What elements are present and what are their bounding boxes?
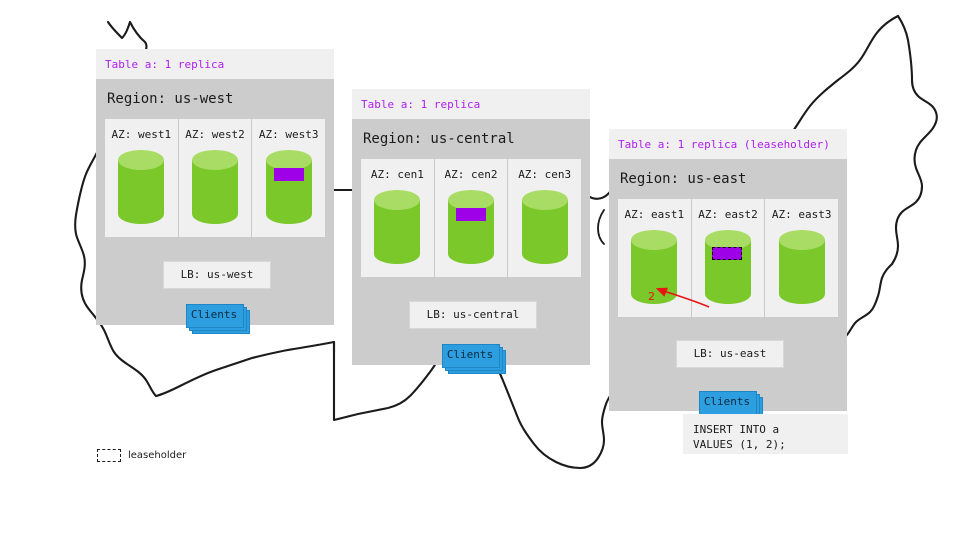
az-row-us-west: AZ: west1 AZ: west2	[105, 119, 325, 237]
node-cylinder-west2[interactable]	[191, 149, 239, 225]
region-title-us-west: Region: us-west	[105, 79, 325, 119]
az-label-east2: AZ: east2	[692, 208, 765, 221]
node-cylinder-east3[interactable]	[778, 229, 826, 305]
region-panel-us-central: Table a: 1 replica Region: us-central AZ…	[352, 89, 590, 365]
load-balancer-us-east[interactable]: LB: us-east	[676, 340, 784, 368]
load-balancer-us-central[interactable]: LB: us-central	[409, 301, 537, 329]
leaseholder-replica-cen2	[456, 208, 486, 221]
region-title-us-central: Region: us-central	[361, 119, 581, 159]
az-label-east3: AZ: east3	[765, 208, 838, 221]
az-cell-west1[interactable]: AZ: west1	[105, 119, 179, 237]
clients-button-us-east[interactable]: Clients	[699, 391, 755, 413]
leaseholder-swatch-icon	[97, 449, 121, 462]
az-label-cen2: AZ: cen2	[435, 168, 508, 181]
az-cell-cen3[interactable]: AZ: cen3	[508, 159, 581, 277]
panel-header-us-central: Table a: 1 replica	[352, 89, 590, 119]
region-panel-us-east: Table a: 1 replica (leaseholder) Region:…	[609, 129, 847, 411]
panel-body-us-central: Region: us-central AZ: cen1 AZ: cen2	[352, 119, 590, 365]
az-cell-cen1[interactable]: AZ: cen1	[361, 159, 435, 277]
node-cylinder-cen1[interactable]	[373, 189, 421, 265]
leaseholder-replica-west3	[274, 168, 304, 181]
arrow-step-label: 2	[648, 290, 655, 303]
az-cell-west3[interactable]: AZ: west3	[252, 119, 325, 237]
az-label-cen3: AZ: cen3	[508, 168, 581, 181]
legend-leaseholder: leaseholder	[97, 449, 186, 462]
az-row-us-central: AZ: cen1 AZ: cen2	[361, 159, 581, 277]
clients-button-label-us-west: Clients	[186, 304, 242, 326]
az-cell-east2[interactable]: AZ: east2	[692, 199, 766, 317]
region-title-us-east: Region: us-east	[618, 159, 838, 199]
az-cell-east3[interactable]: AZ: east3	[765, 199, 838, 317]
panel-body-us-east: Region: us-east AZ: east1 AZ: east2	[609, 159, 847, 411]
clients-button-us-central[interactable]: Clients	[442, 344, 498, 366]
node-cylinder-east2[interactable]	[704, 229, 752, 305]
clients-button-us-west[interactable]: Clients	[186, 304, 242, 326]
panel-header-us-east: Table a: 1 replica (leaseholder)	[609, 129, 847, 159]
az-label-west3: AZ: west3	[252, 128, 325, 141]
panel-header-us-west: Table a: 1 replica	[96, 49, 334, 79]
az-label-cen1: AZ: cen1	[361, 168, 434, 181]
az-cell-west2[interactable]: AZ: west2	[179, 119, 253, 237]
clients-button-label-us-central: Clients	[442, 344, 498, 366]
legend-label: leaseholder	[128, 450, 186, 461]
node-cylinder-west1[interactable]	[117, 149, 165, 225]
leaseholder-replica-east2	[712, 247, 742, 260]
az-label-west1: AZ: west1	[105, 128, 178, 141]
diagram-stage: Table a: 1 replica Region: us-west AZ: w…	[0, 0, 960, 540]
region-panel-us-west: Table a: 1 replica Region: us-west AZ: w…	[96, 49, 334, 325]
az-label-west2: AZ: west2	[179, 128, 252, 141]
clients-button-label-us-east: Clients	[699, 391, 755, 413]
az-cell-cen2[interactable]: AZ: cen2	[435, 159, 509, 277]
node-cylinder-west3[interactable]	[265, 149, 313, 225]
node-cylinder-cen2[interactable]	[447, 189, 495, 265]
panel-body-us-west: Region: us-west AZ: west1 AZ: west2	[96, 79, 334, 325]
sql-statement-box: INSERT INTO a VALUES (1, 2);	[683, 414, 848, 454]
node-cylinder-cen3[interactable]	[521, 189, 569, 265]
load-balancer-us-west[interactable]: LB: us-west	[163, 261, 271, 289]
az-label-east1: AZ: east1	[618, 208, 691, 221]
